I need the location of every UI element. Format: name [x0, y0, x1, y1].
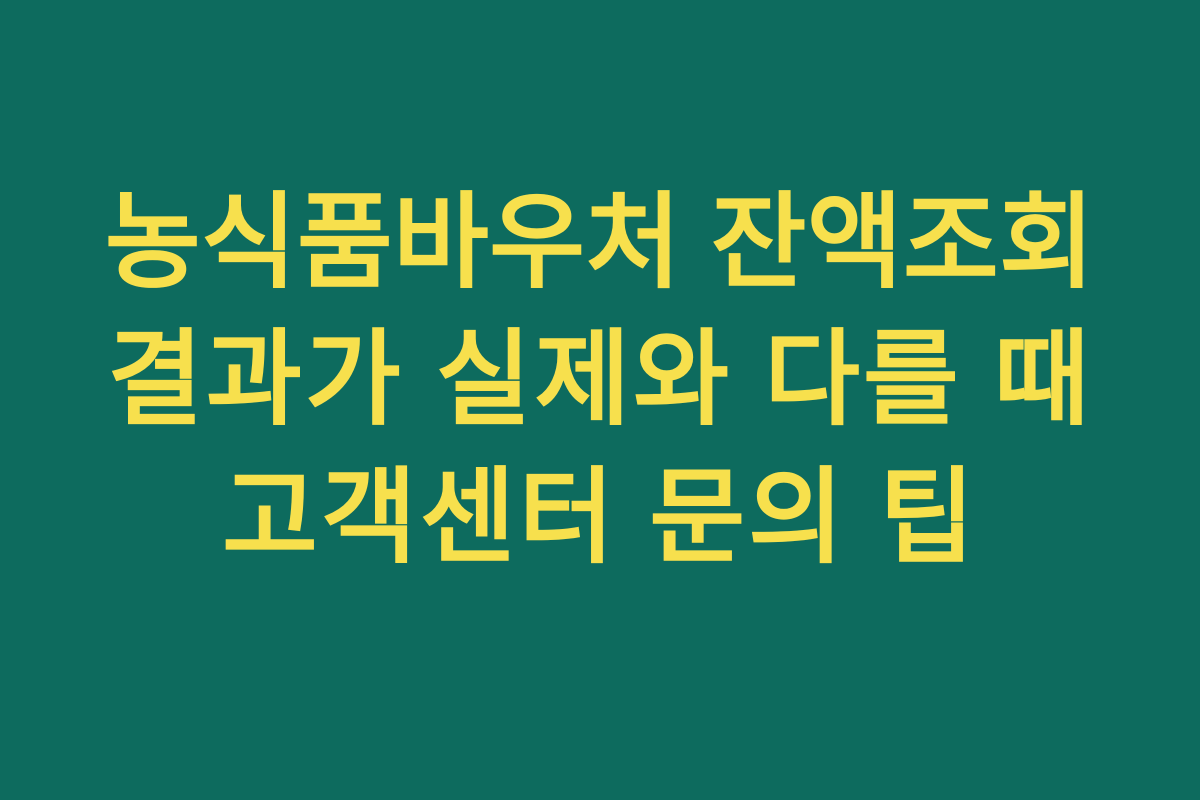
headline-line-3: 고객센터 문의 팁	[40, 450, 1160, 587]
headline-line-2: 결과가 실제와 다를 때	[40, 312, 1160, 449]
thumbnail-card: 농식품바우처 잔액조회 결과가 실제와 다를 때 고객센터 문의 팁	[0, 0, 1200, 800]
headline-line-1: 농식품바우처 잔액조회	[40, 175, 1160, 312]
headline-block: 농식품바우처 잔액조회 결과가 실제와 다를 때 고객센터 문의 팁	[0, 175, 1200, 587]
